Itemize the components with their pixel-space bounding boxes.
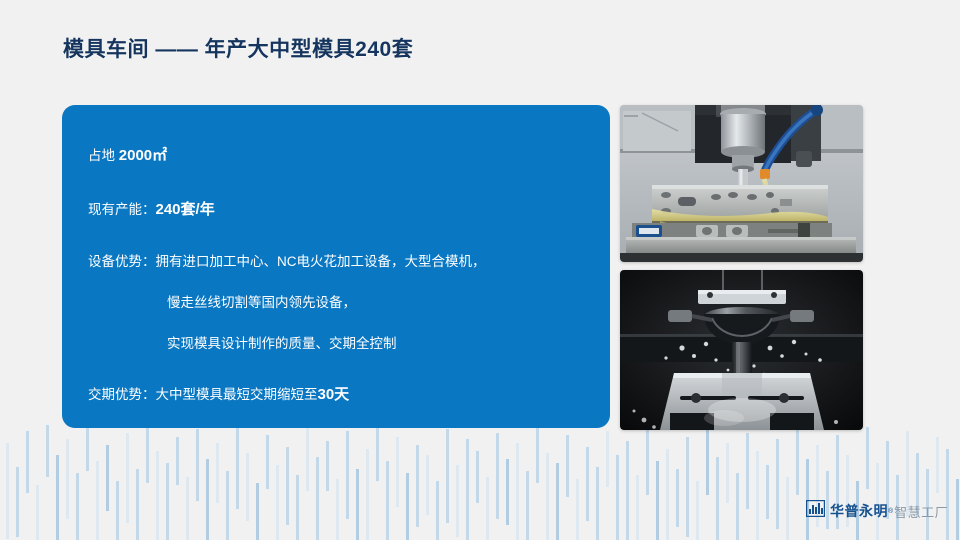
pattern-bar xyxy=(556,463,559,540)
info-capacity-value: 240套/年 xyxy=(156,201,215,218)
pattern-bar xyxy=(326,441,329,491)
pattern-bar xyxy=(536,425,539,483)
logo: 华普永明® 智慧工厂 xyxy=(806,500,948,522)
pattern-bar xyxy=(606,431,609,487)
pattern-bar xyxy=(46,425,49,477)
photo-cnc-dark-graphic xyxy=(620,270,863,430)
pattern-bar xyxy=(596,467,599,540)
pattern-bar xyxy=(676,469,679,527)
pattern-bar xyxy=(526,471,529,540)
pattern-bar xyxy=(656,461,659,540)
pattern-bar xyxy=(646,427,649,495)
pattern-bar xyxy=(736,473,739,540)
pattern-bar xyxy=(256,483,259,540)
pattern-bar xyxy=(156,451,159,540)
pattern-bar xyxy=(456,465,459,537)
pattern-bar xyxy=(246,453,249,521)
pattern-bar xyxy=(706,425,709,495)
info-area-value: 2000 xyxy=(119,147,152,164)
pattern-bar xyxy=(306,427,309,491)
pattern-bar xyxy=(576,479,579,540)
info-line-delivery: 交期优势：大中型模具最短交期缩短至30天 xyxy=(88,384,584,405)
pattern-bar xyxy=(616,455,619,540)
info-line-equipment-2: 慢走丝线切割等国内领先设备， xyxy=(88,294,584,313)
info-delivery-label: 交期优势：大中型模具最短交期缩短至 xyxy=(88,387,318,402)
pattern-bar xyxy=(226,471,229,540)
pattern-bar xyxy=(486,477,489,540)
pattern-bar xyxy=(476,451,479,503)
pattern-bar xyxy=(386,461,389,540)
pattern-bar xyxy=(6,443,9,539)
pattern-bar xyxy=(76,473,79,540)
info-delivery-value: 30天 xyxy=(318,386,350,403)
pattern-bar xyxy=(956,479,959,540)
pattern-bar xyxy=(776,439,779,529)
info-area-unit: ㎡ xyxy=(152,147,167,164)
pattern-bar xyxy=(36,485,39,540)
pattern-bar xyxy=(436,481,439,540)
pattern-bar xyxy=(216,443,219,503)
pattern-bar xyxy=(296,475,299,540)
pattern-bar xyxy=(496,433,499,519)
registered-mark-icon: ® xyxy=(888,508,893,515)
pattern-bar xyxy=(766,465,769,519)
pattern-bar xyxy=(626,441,629,540)
pattern-bar xyxy=(346,431,349,519)
photo-cnc-dark xyxy=(620,270,863,430)
pattern-bar xyxy=(66,439,69,519)
pattern-bar xyxy=(116,481,119,540)
pattern-bar xyxy=(356,469,359,540)
pattern-bar xyxy=(666,449,669,540)
pattern-bar xyxy=(546,453,549,540)
logo-tagline: 智慧工厂 xyxy=(894,502,948,521)
logo-brand-name: 华普永明 xyxy=(830,501,888,521)
pattern-bar xyxy=(516,443,519,540)
pattern-bar xyxy=(866,427,869,489)
pattern-bar xyxy=(446,429,449,523)
photo-cnc-milling-graphic xyxy=(620,105,863,262)
pattern-bar xyxy=(396,437,399,507)
pattern-bar xyxy=(936,437,939,493)
pattern-bar xyxy=(376,425,379,481)
pattern-bar xyxy=(166,463,169,540)
info-line-capacity: 现有产能：240套/年 xyxy=(88,199,584,220)
pattern-bar xyxy=(406,473,409,540)
info-area-label: 占地 xyxy=(88,148,119,163)
pattern-bar xyxy=(186,477,189,540)
pattern-bar xyxy=(86,427,89,471)
info-line-equipment-3: 实现模具设计制作的质量、交期全控制 xyxy=(88,335,584,354)
pattern-bar xyxy=(196,429,199,501)
pattern-bar xyxy=(746,433,749,509)
pattern-bar xyxy=(136,469,139,540)
info-line-area: 占地 2000㎡ xyxy=(88,145,584,166)
pattern-bar xyxy=(286,447,289,525)
info-panel: 占地 2000㎡ 现有产能：240套/年 设备优势：拥有进口加工中心、NC电火花… xyxy=(62,105,610,428)
pattern-bar xyxy=(586,447,589,521)
pattern-bar xyxy=(56,455,59,540)
pattern-bar xyxy=(96,461,99,540)
pattern-bar xyxy=(416,445,419,527)
pattern-bar xyxy=(426,455,429,515)
pattern-bar xyxy=(146,425,149,483)
info-capacity-label: 现有产能： xyxy=(88,202,156,217)
pattern-bar xyxy=(696,481,699,540)
pattern-bar xyxy=(126,433,129,523)
info-line-equipment-1: 设备优势：拥有进口加工中心、NC电火花加工设备，大型合模机， xyxy=(88,253,584,272)
pattern-bar xyxy=(566,435,569,497)
pattern-bar xyxy=(236,425,239,509)
pattern-bar xyxy=(336,479,339,540)
pattern-bar xyxy=(636,475,639,540)
pattern-bar xyxy=(796,429,799,495)
pattern-bar xyxy=(756,451,759,540)
pattern-bar xyxy=(26,431,29,493)
pattern-bar xyxy=(276,465,279,540)
pattern-bar xyxy=(506,459,509,525)
page-title: 模具车间 —— 年产大中型模具240套 xyxy=(63,33,413,63)
bar-chart-mark-icon xyxy=(806,500,825,522)
pattern-bar xyxy=(726,443,729,503)
pattern-bar xyxy=(786,477,789,540)
pattern-bar xyxy=(106,445,109,511)
pattern-bar xyxy=(176,437,179,485)
pattern-bar xyxy=(686,437,689,537)
photo-cnc-milling xyxy=(620,105,863,262)
pattern-bar xyxy=(316,457,319,540)
pattern-bar xyxy=(206,459,209,540)
vertical-bar-pattern xyxy=(0,425,960,540)
pattern-bar xyxy=(16,467,19,537)
pattern-bar xyxy=(466,439,469,540)
pattern-bar xyxy=(716,457,719,540)
pattern-bar xyxy=(946,449,949,540)
pattern-bar xyxy=(366,449,369,540)
pattern-bar xyxy=(266,435,269,489)
